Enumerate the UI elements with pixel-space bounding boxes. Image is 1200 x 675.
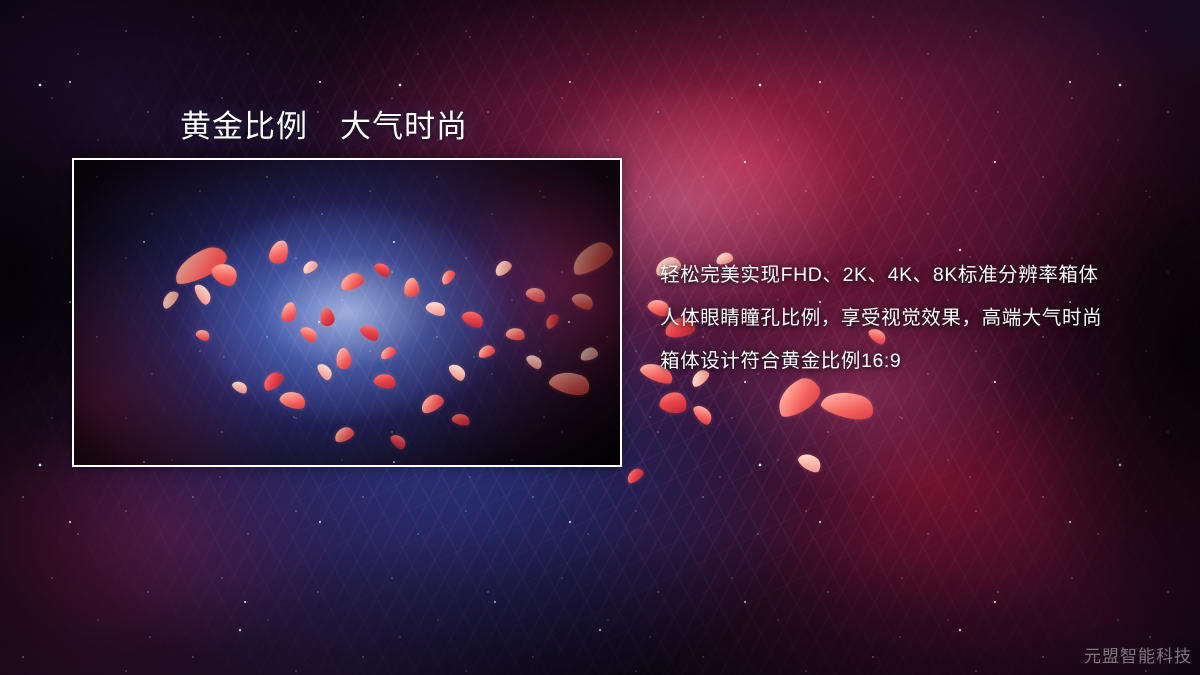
panel-vignette — [74, 160, 620, 465]
flower-petal — [819, 385, 876, 426]
image-frame — [72, 158, 622, 467]
page-title: 黄金比例 大气时尚 — [180, 101, 468, 146]
body-line-2: 人体眼睛瞳孔比例，享受视觉效果，高端大气时尚 — [660, 297, 1102, 340]
flower-petal — [658, 389, 689, 415]
watermark: 元盟智能科技 — [1084, 642, 1192, 667]
body-line-3: 箱体设计符合黄金比例16:9 — [660, 340, 1102, 383]
body-text-block: 轻松完美实现FHD、2K、4K、8K标准分辨率箱体 人体眼睛瞳孔比例，享受视觉效… — [660, 254, 1102, 383]
slide-canvas: 黄金比例 大气时尚 轻松完美实现FHD、2K、4K、8K标准分辨率箱体 人体眼睛… — [0, 0, 1200, 675]
flower-petal — [796, 450, 824, 476]
flower-petal — [691, 402, 715, 427]
body-line-1: 轻松完美实现FHD、2K、4K、8K标准分辨率箱体 — [660, 254, 1102, 297]
flower-petal — [624, 466, 645, 485]
